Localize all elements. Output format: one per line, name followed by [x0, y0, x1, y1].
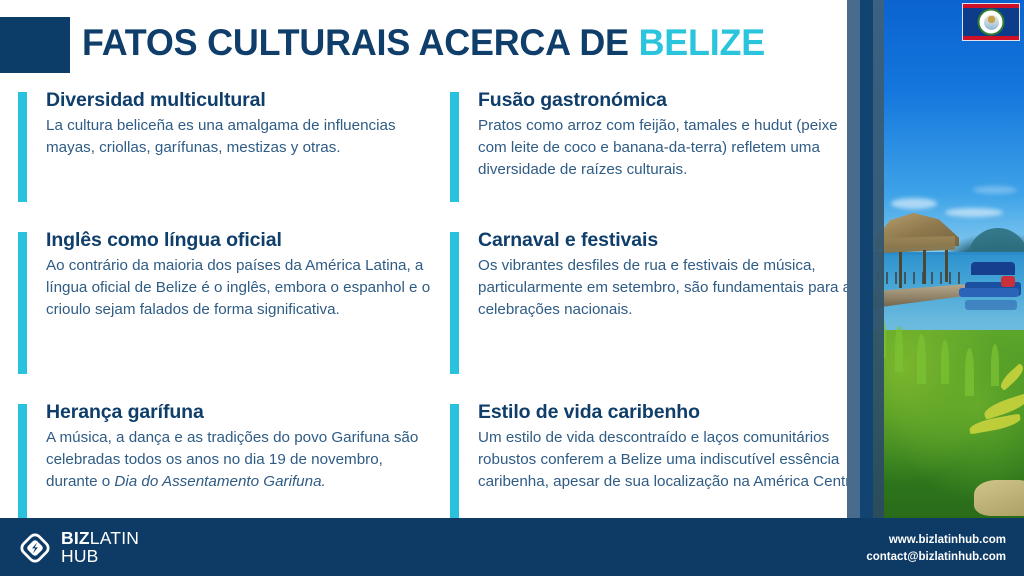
- photo-grass-blade: [941, 340, 949, 384]
- photo-cloud: [973, 186, 1017, 194]
- photo-grass-blade: [991, 344, 999, 386]
- belize-flag: [962, 3, 1020, 41]
- photo-boat-red-detail: [1001, 276, 1015, 287]
- page-title-main: FATOS CULTURAIS ACERCA DE: [82, 22, 639, 63]
- card-title: Herança garífuna: [46, 400, 438, 424]
- card-body: Os vibrantes desfiles de rua e festivais…: [478, 255, 870, 321]
- fact-card-diversidad-multicultural: Diversidad multicultural La cultura beli…: [18, 88, 438, 206]
- fact-card-ingles-lingua-oficial: Inglês como língua oficial Ao contrário …: [18, 228, 438, 378]
- card-body-italic: Dia do Assentamento Garifuna.: [114, 473, 325, 490]
- card-accent-bar: [450, 404, 459, 528]
- logo-hub: HUB: [61, 548, 139, 566]
- fact-card-heranca-garifuna: Herança garífuna A música, a dança e as …: [18, 400, 438, 532]
- card-accent-bar: [18, 232, 27, 374]
- footer-email[interactable]: contact@bizlatinhub.com: [866, 549, 1006, 566]
- photo-left-band: [873, 0, 884, 518]
- card-body: A música, a dança e as tradições do povo…: [46, 427, 438, 493]
- photo-grass-blade: [917, 334, 926, 384]
- photo-boat-canopy: [971, 262, 1015, 275]
- photo-boat: [959, 288, 1019, 297]
- flag-stripe-top: [963, 4, 1019, 8]
- header: FATOS CULTURAIS ACERCA DE BELIZE: [0, 0, 860, 90]
- page-title-highlight: BELIZE: [639, 22, 765, 63]
- facts-column-right: Fusão gastronómica Pratos como arroz com…: [450, 88, 870, 554]
- header-accent-block: [0, 17, 70, 73]
- card-title: Estilo de vida caribenho: [478, 400, 870, 424]
- photo-dock-railing: [877, 272, 965, 284]
- footer-contact: www.bizlatinhub.com contact@bizlatinhub.…: [866, 532, 1006, 567]
- card-title: Carnaval e festivais: [478, 228, 870, 252]
- card-body: Ao contrário da maioria dos países da Am…: [46, 255, 438, 321]
- photo-grass-blade: [895, 326, 903, 372]
- fact-card-fusao-gastronomica: Fusão gastronómica Pratos como arroz com…: [450, 88, 870, 206]
- photo-sand-rock: [974, 480, 1024, 516]
- card-accent-bar: [18, 92, 27, 202]
- flag-coat-of-arms: [978, 9, 1005, 36]
- card-title: Inglês como língua oficial: [46, 228, 438, 252]
- card-body: Pratos como arroz com feijão, tamales e …: [478, 115, 870, 181]
- logo-biz: BIZ: [61, 528, 90, 548]
- bizlatinhub-logo[interactable]: BIZLATIN HUB: [18, 530, 139, 566]
- photo-grass-blade: [965, 348, 974, 396]
- fact-card-estilo-de-vida-caribenho: Estilo de vida caribenho Um estilo de vi…: [450, 400, 870, 532]
- fact-card-carnaval-e-festivais: Carnaval e festivais Os vibrantes desfil…: [450, 228, 870, 378]
- flag-stripe-bottom: [963, 36, 1019, 40]
- photo-boat-reflection: [965, 300, 1017, 310]
- photo-cloud: [891, 198, 937, 209]
- belize-lagoon-photo: [873, 0, 1024, 518]
- card-body: Um estilo de vida descontraído e laços c…: [478, 427, 870, 493]
- logo-latin: LATIN: [90, 528, 139, 548]
- facts-grid: Diversidad multicultural La cultura beli…: [0, 88, 847, 516]
- edge-strip-gray: [847, 0, 860, 518]
- infographic-page: FATOS CULTURAIS ACERCA DE BELIZE Diversi…: [0, 0, 1024, 576]
- edge-strip-navy: [860, 0, 873, 518]
- bizlatinhub-logo-text: BIZLATIN HUB: [61, 530, 139, 566]
- card-accent-bar: [450, 92, 459, 202]
- card-body: La cultura beliceña es una amalgama de i…: [46, 115, 438, 159]
- card-accent-bar: [450, 232, 459, 374]
- photo-cloud: [945, 208, 1003, 217]
- page-title: FATOS CULTURAIS ACERCA DE BELIZE: [82, 22, 765, 64]
- facts-column-left: Diversidad multicultural La cultura beli…: [18, 88, 438, 554]
- footer-website[interactable]: www.bizlatinhub.com: [866, 532, 1006, 549]
- card-accent-bar: [18, 404, 27, 528]
- footer: BIZLATIN HUB www.bizlatinhub.com contact…: [0, 518, 1024, 576]
- card-title: Diversidad multicultural: [46, 88, 438, 112]
- card-title: Fusão gastronómica: [478, 88, 870, 112]
- bizlatinhub-diamond-icon: [18, 531, 52, 565]
